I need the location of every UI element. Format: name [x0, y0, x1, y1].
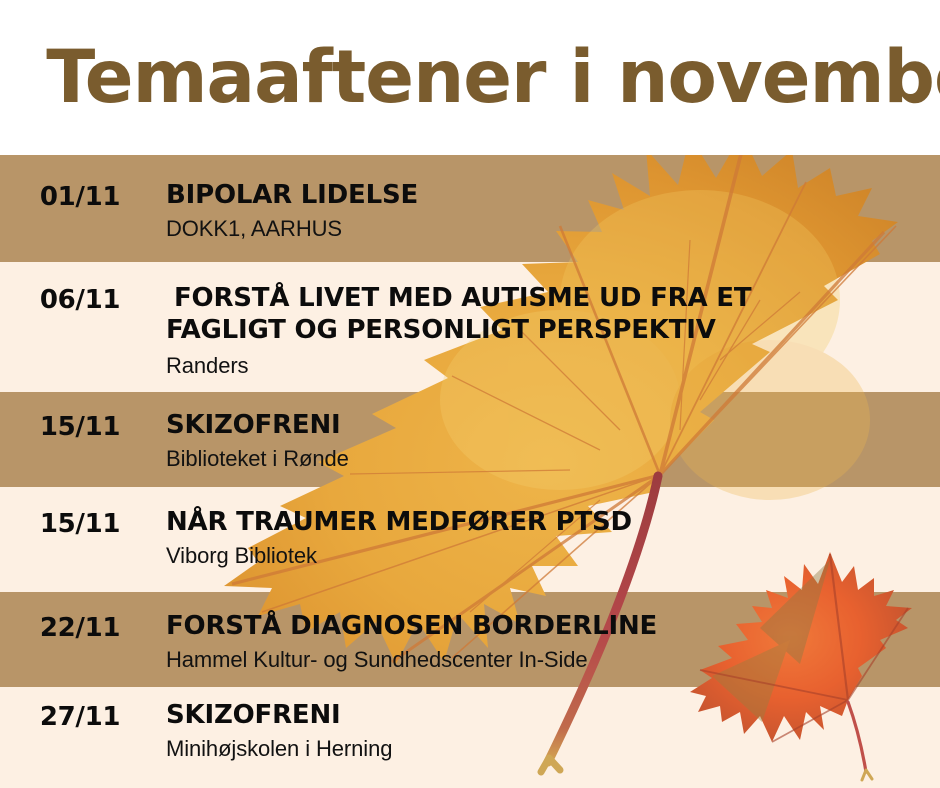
event-body: SKIZOFRENI Minihøjskolen i Herning — [160, 700, 940, 762]
event-body: FORSTÅ DIAGNOSEN BORDERLINE Hammel Kultu… — [160, 611, 940, 673]
event-row[interactable]: 27/11 SKIZOFRENI Minihøjskolen i Herning — [0, 700, 940, 762]
event-body: SKIZOFRENI Biblioteket i Rønde — [160, 410, 940, 472]
page-title: Temaaftener i november — [0, 41, 940, 114]
event-date: 01/11 — [0, 180, 160, 212]
event-row[interactable]: 15/11 NÅR TRAUMER MEDFØRER PTSD Viborg B… — [0, 507, 940, 569]
event-venue: Randers — [166, 352, 940, 380]
poster-canvas: Temaaftener i november 01/11 BIPOLAR LID… — [0, 0, 940, 788]
event-title: NÅR TRAUMER MEDFØRER PTSD — [166, 507, 940, 539]
event-venue: DOKK1, AARHUS — [166, 215, 940, 243]
event-venue: Hammel Kultur- og Sundhedscenter In-Side — [166, 646, 940, 674]
event-body: FORSTÅ LIVET MED AUTISME UD FRA ET FAGLI… — [160, 283, 940, 380]
event-title: FORSTÅ DIAGNOSEN BORDERLINE — [166, 611, 940, 643]
event-date: 15/11 — [0, 410, 160, 442]
event-date: 27/11 — [0, 700, 160, 732]
title-bar: Temaaftener i november — [0, 0, 940, 155]
event-title: SKIZOFRENI — [166, 410, 940, 442]
event-venue: Biblioteket i Rønde — [166, 445, 940, 473]
event-row[interactable]: 15/11 SKIZOFRENI Biblioteket i Rønde — [0, 410, 940, 472]
event-date: 06/11 — [0, 283, 160, 315]
event-body: NÅR TRAUMER MEDFØRER PTSD Viborg Bibliot… — [160, 507, 940, 569]
event-body: BIPOLAR LIDELSE DOKK1, AARHUS — [160, 180, 940, 242]
event-title: SKIZOFRENI — [166, 700, 940, 732]
event-venue: Viborg Bibliotek — [166, 542, 940, 570]
event-date: 15/11 — [0, 507, 160, 539]
event-date: 22/11 — [0, 611, 160, 643]
event-title: BIPOLAR LIDELSE — [166, 180, 940, 212]
event-row[interactable]: 22/11 FORSTÅ DIAGNOSEN BORDERLINE Hammel… — [0, 611, 940, 673]
event-row[interactable]: 01/11 BIPOLAR LIDELSE DOKK1, AARHUS — [0, 180, 940, 242]
event-row[interactable]: 06/11 FORSTÅ LIVET MED AUTISME UD FRA ET… — [0, 283, 940, 380]
event-venue: Minihøjskolen i Herning — [166, 735, 940, 763]
event-title: FORSTÅ LIVET MED AUTISME UD FRA ET FAGLI… — [166, 283, 940, 346]
